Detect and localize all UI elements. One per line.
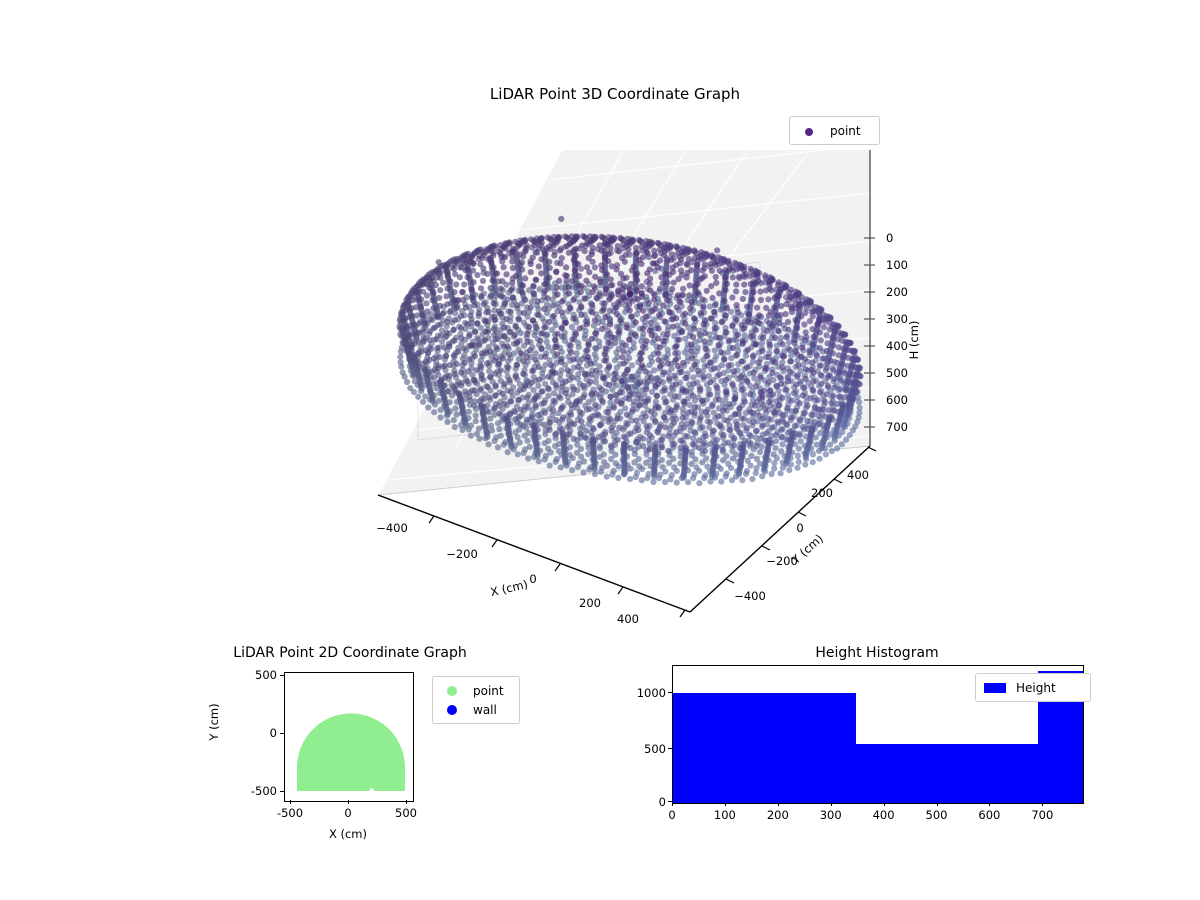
svg-text:−200: −200 xyxy=(446,547,478,561)
svg-text:700: 700 xyxy=(886,420,908,434)
panel-2d-title: LiDAR Point 2D Coordinate Graph xyxy=(180,645,520,661)
svg-text:−400: −400 xyxy=(734,589,766,603)
svg-text:−400: −400 xyxy=(376,521,408,535)
point-cloud-2d xyxy=(297,714,405,792)
histogram-bar[interactable] xyxy=(673,693,856,803)
legend-item-height[interactable]: Height xyxy=(984,678,1082,697)
ytick-mark xyxy=(280,791,284,792)
xtick-mark xyxy=(672,802,673,806)
svg-text:200: 200 xyxy=(886,285,908,299)
svg-text:600: 600 xyxy=(886,393,908,407)
ytick-mark xyxy=(668,748,672,749)
xtick-mark xyxy=(884,802,885,806)
xtick-label: 700 xyxy=(1020,808,1064,822)
xtick-label: 0 xyxy=(650,808,694,822)
xtick-label: 200 xyxy=(756,808,800,822)
svg-text:0: 0 xyxy=(886,231,893,245)
legend-label: point xyxy=(473,684,504,698)
svg-text:200: 200 xyxy=(811,486,833,500)
axes-3d[interactable]: −400 −200 0 200 . 400 X (cm) −400 −200 0 xyxy=(330,140,950,630)
zlabel-3d: H (cm) xyxy=(907,321,921,360)
ytick-mark xyxy=(668,692,672,693)
svg-text:300: 300 xyxy=(886,312,908,326)
svg-text:0: 0 xyxy=(529,572,536,586)
plot-3d-svg: −400 −200 0 200 . 400 X (cm) −400 −200 0 xyxy=(330,140,950,630)
xtick-mark xyxy=(989,802,990,806)
xlabel-3d: X (cm) xyxy=(489,577,529,599)
svg-text:400: 400 xyxy=(617,612,639,626)
xtick-label: 500 xyxy=(915,808,959,822)
svg-text:100: 100 xyxy=(886,258,908,272)
xtick-mark xyxy=(406,800,407,804)
xtick-mark xyxy=(348,800,349,804)
xtick-label: 600 xyxy=(967,808,1011,822)
legend-label: Height xyxy=(1016,681,1056,695)
histogram-bar[interactable] xyxy=(856,744,1039,803)
ytick-mark xyxy=(280,675,284,676)
ytick-mark xyxy=(280,733,284,734)
svg-text:200: 200 xyxy=(579,596,601,610)
panel-hist-title: Height Histogram xyxy=(727,645,1027,661)
xtick-label: 100 xyxy=(703,808,747,822)
xtick-mark xyxy=(725,802,726,806)
xtick-mark xyxy=(937,802,938,806)
svg-text:400: 400 xyxy=(847,468,869,482)
point-marker-icon xyxy=(798,121,820,140)
legend-histogram[interactable]: Height xyxy=(975,673,1091,702)
legend-2d[interactable]: point wall xyxy=(432,676,520,724)
axes-2d[interactable] xyxy=(284,672,414,802)
xtick-mark xyxy=(290,800,291,804)
legend-item-point[interactable]: point xyxy=(798,121,871,140)
ylabel-2d: Y (cm) xyxy=(207,702,221,742)
xlabel-2d: X (cm) xyxy=(306,827,390,841)
legend-3d[interactable]: point xyxy=(789,116,880,145)
svg-text:400: 400 xyxy=(886,339,908,353)
xtick-mark xyxy=(831,802,832,806)
ylabel-3d: Y (cm) xyxy=(788,531,826,567)
legend-item-wall[interactable]: wall xyxy=(441,700,511,719)
xtick-label: 400 xyxy=(862,808,906,822)
panel-3d-title: LiDAR Point 3D Coordinate Graph xyxy=(380,85,850,103)
plot-2d-svg xyxy=(285,673,413,801)
wall-marker-icon xyxy=(441,700,463,719)
svg-text:0: 0 xyxy=(796,521,803,535)
legend-label: wall xyxy=(473,703,497,717)
legend-label: point xyxy=(830,124,861,138)
height-bar-icon xyxy=(984,683,1006,693)
xtick-label: 300 xyxy=(809,808,853,822)
svg-text:500: 500 xyxy=(886,366,908,380)
point-marker-icon xyxy=(441,681,463,700)
legend-item-point[interactable]: point xyxy=(441,681,511,700)
xtick-mark xyxy=(1042,802,1043,806)
xtick-mark xyxy=(778,802,779,806)
figure-canvas: LiDAR Point 3D Coordinate Graph xyxy=(0,0,1200,900)
